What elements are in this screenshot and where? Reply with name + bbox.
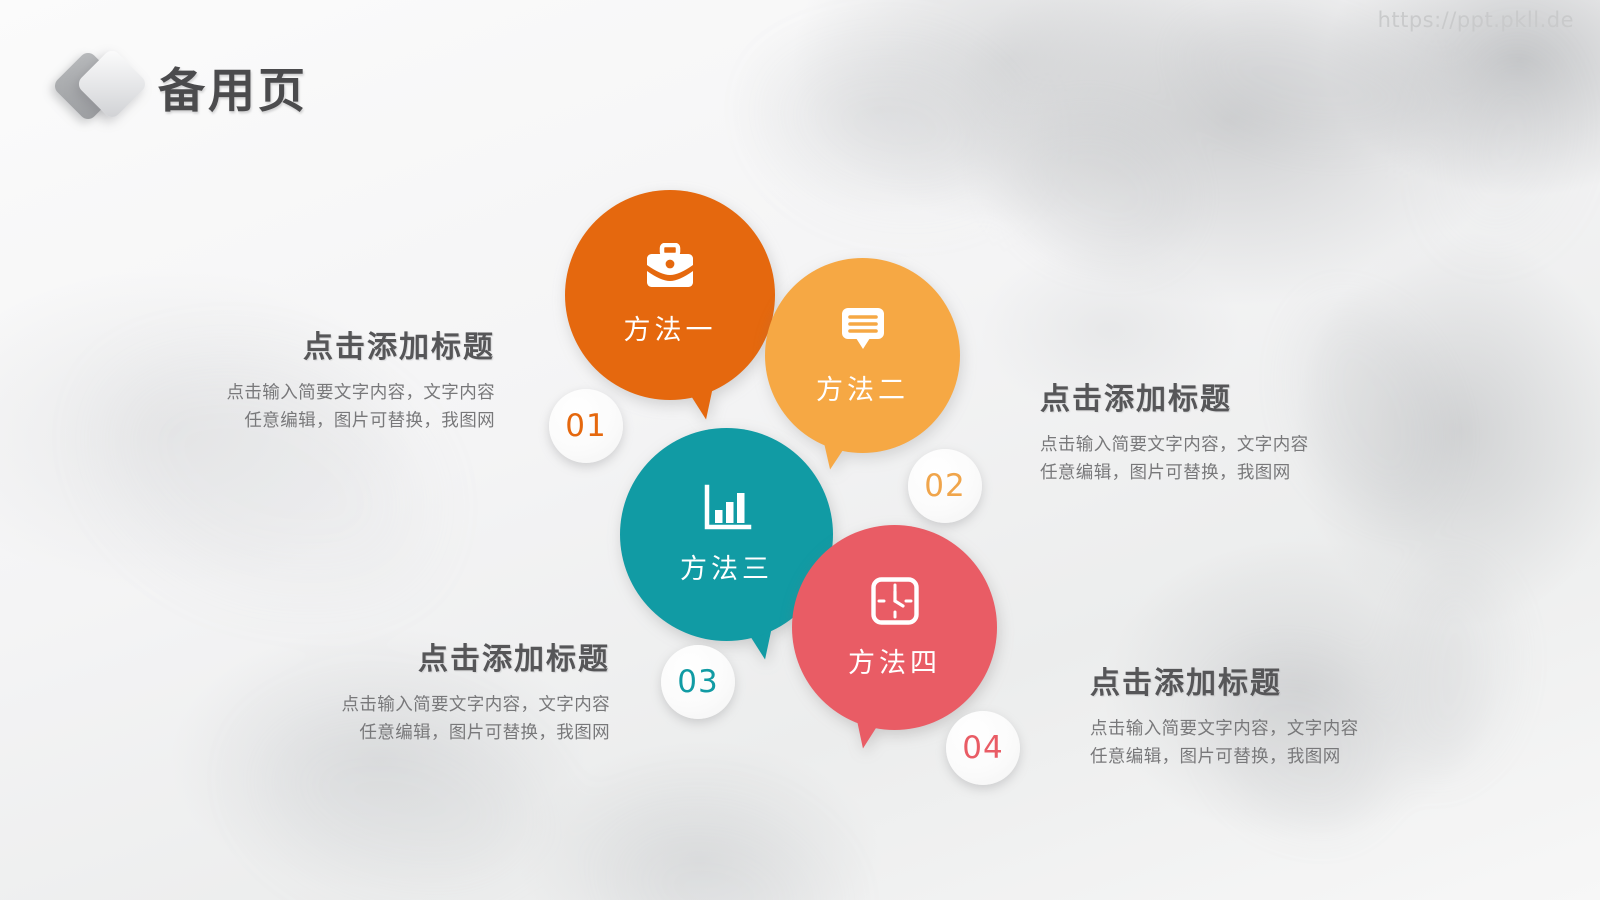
bubble-2-disc[interactable]: 方法二: [765, 258, 960, 453]
chat-bubble-icon: [838, 305, 888, 358]
text-block-4-line2: 任意编辑，图片可替换，我图网: [1090, 742, 1420, 770]
text-block-4: 点击添加标题 点击输入简要文字内容，文字内容 任意编辑，图片可替换，我图网: [1090, 658, 1420, 771]
bubble-method-4[interactable]: 方法四: [792, 525, 997, 730]
text-block-2-line1: 点击输入简要文字内容，文字内容: [1040, 430, 1370, 458]
bubble-4-label: 方法四: [848, 641, 941, 680]
bubble-3-label: 方法三: [680, 547, 773, 586]
badge-01-number: 01: [565, 408, 606, 444]
badge-04-number: 04: [962, 730, 1003, 766]
badge-04[interactable]: 04: [946, 711, 1020, 785]
text-block-2: 点击添加标题 点击输入简要文字内容，文字内容 任意编辑，图片可替换，我图网: [1040, 374, 1370, 487]
text-block-1-line1: 点击输入简要文字内容，文字内容: [175, 378, 495, 406]
page-title: 备用页: [158, 52, 308, 121]
briefcase-icon: [642, 243, 698, 298]
text-block-3-line2: 任意编辑，图片可替换，我图网: [280, 718, 610, 746]
text-block-3-line1: 点击输入简要文字内容，文字内容: [280, 690, 610, 718]
badge-03[interactable]: 03: [661, 645, 735, 719]
slide-header: 备用页: [60, 46, 308, 126]
bubble-method-2[interactable]: 方法二: [765, 258, 960, 453]
bubble-2-label: 方法二: [816, 368, 909, 407]
text-block-2-line2: 任意编辑，图片可替换，我图网: [1040, 458, 1370, 486]
bar-chart-icon: [701, 484, 753, 537]
text-block-1-line2: 任意编辑，图片可替换，我图网: [175, 406, 495, 434]
bubble-1-disc[interactable]: 方法一: [565, 190, 775, 400]
double-diamond-logo-icon: [60, 46, 146, 126]
bubble-1-label: 方法一: [624, 308, 717, 347]
text-block-3-title: 点击添加标题: [280, 634, 610, 678]
watermark-url: https://ppt.pkll.de: [1378, 8, 1574, 32]
text-block-4-title: 点击添加标题: [1090, 658, 1420, 702]
text-block-1-title: 点击添加标题: [175, 322, 495, 366]
text-block-2-title: 点击添加标题: [1040, 374, 1370, 418]
clock-icon: [870, 576, 920, 631]
bubble-method-1[interactable]: 方法一: [565, 190, 775, 400]
text-block-1: 点击添加标题 点击输入简要文字内容，文字内容 任意编辑，图片可替换，我图网: [175, 322, 495, 435]
text-block-3: 点击添加标题 点击输入简要文字内容，文字内容 任意编辑，图片可替换，我图网: [280, 634, 610, 747]
text-block-4-line1: 点击输入简要文字内容，文字内容: [1090, 714, 1420, 742]
badge-03-number: 03: [677, 664, 718, 700]
badge-02[interactable]: 02: [908, 449, 982, 523]
badge-01[interactable]: 01: [549, 389, 623, 463]
badge-02-number: 02: [924, 468, 965, 504]
slide-canvas: https://ppt.pkll.de 备用页 方法一: [0, 0, 1600, 900]
bubble-4-disc[interactable]: 方法四: [792, 525, 997, 730]
